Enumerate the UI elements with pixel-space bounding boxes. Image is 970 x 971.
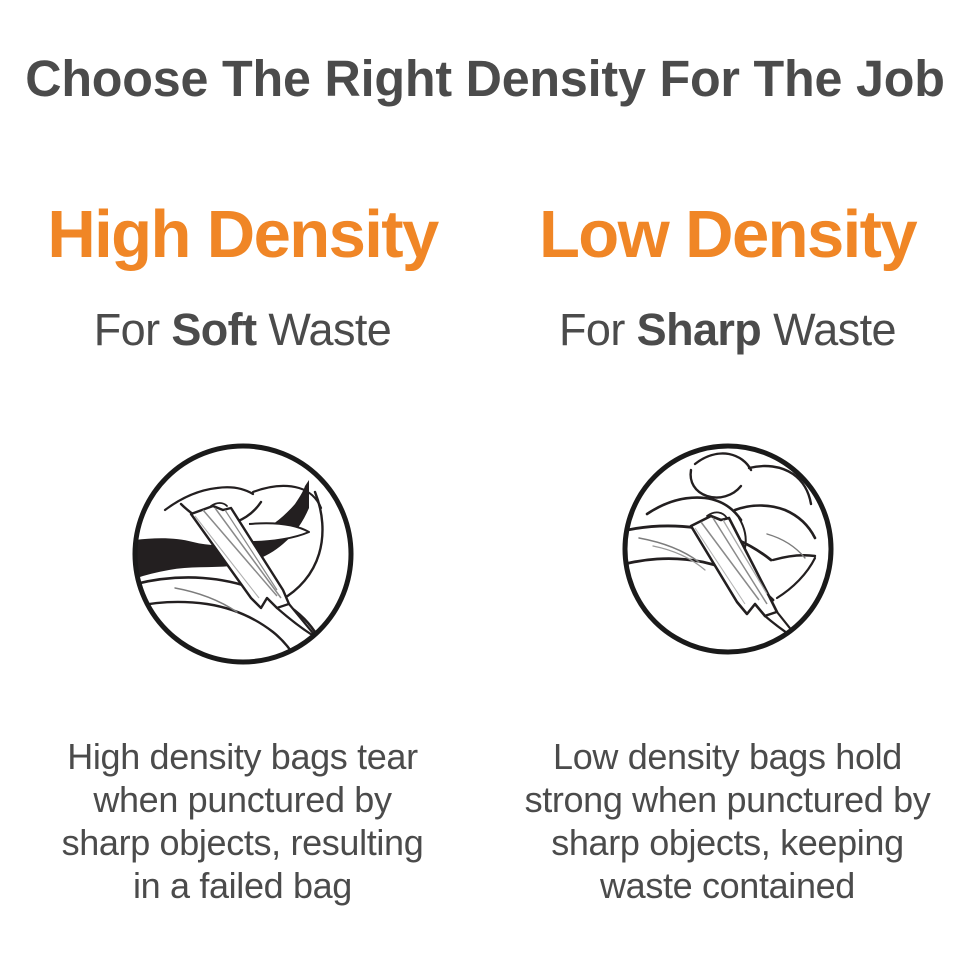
illustration-low-density <box>485 438 970 670</box>
column-low-density: Low Density For Sharp Waste <box>485 0 970 971</box>
waste-subtitle-emphasis: Soft <box>171 304 256 355</box>
waste-subtitle-emphasis: Sharp <box>637 304 762 355</box>
bag-torn-by-sharp-object-icon <box>127 438 359 670</box>
bag-holding-sharp-object-icon <box>617 438 839 660</box>
caption-line: when punctured by <box>0 778 485 821</box>
waste-subtitle-low: For Sharp Waste <box>485 303 970 357</box>
caption-line: in a failed bag <box>0 864 485 907</box>
caption-line: waste contained <box>485 864 970 907</box>
caption-line: sharp objects, keeping <box>485 821 970 864</box>
waste-subtitle-high: For Soft Waste <box>0 303 485 357</box>
density-heading-low: Low Density <box>485 196 970 274</box>
caption-line: Low density bags hold <box>485 735 970 778</box>
density-heading-high: High Density <box>0 196 485 274</box>
infographic-root: Choose The Right Density For The Job Hig… <box>0 0 970 971</box>
caption-line: High density bags tear <box>0 735 485 778</box>
comparison-columns: High Density For Soft Waste <box>0 0 970 971</box>
caption-low-density: Low density bags hold strong when punctu… <box>485 735 970 907</box>
column-high-density: High Density For Soft Waste <box>0 0 485 971</box>
caption-line: strong when punctured by <box>485 778 970 821</box>
illustration-high-density <box>0 438 485 670</box>
waste-subtitle-prefix: For <box>94 304 172 355</box>
caption-line: sharp objects, resulting <box>0 821 485 864</box>
caption-high-density: High density bags tear when punctured by… <box>0 735 485 907</box>
waste-subtitle-prefix: For <box>559 304 637 355</box>
waste-subtitle-suffix: Waste <box>761 304 896 355</box>
waste-subtitle-suffix: Waste <box>256 304 391 355</box>
